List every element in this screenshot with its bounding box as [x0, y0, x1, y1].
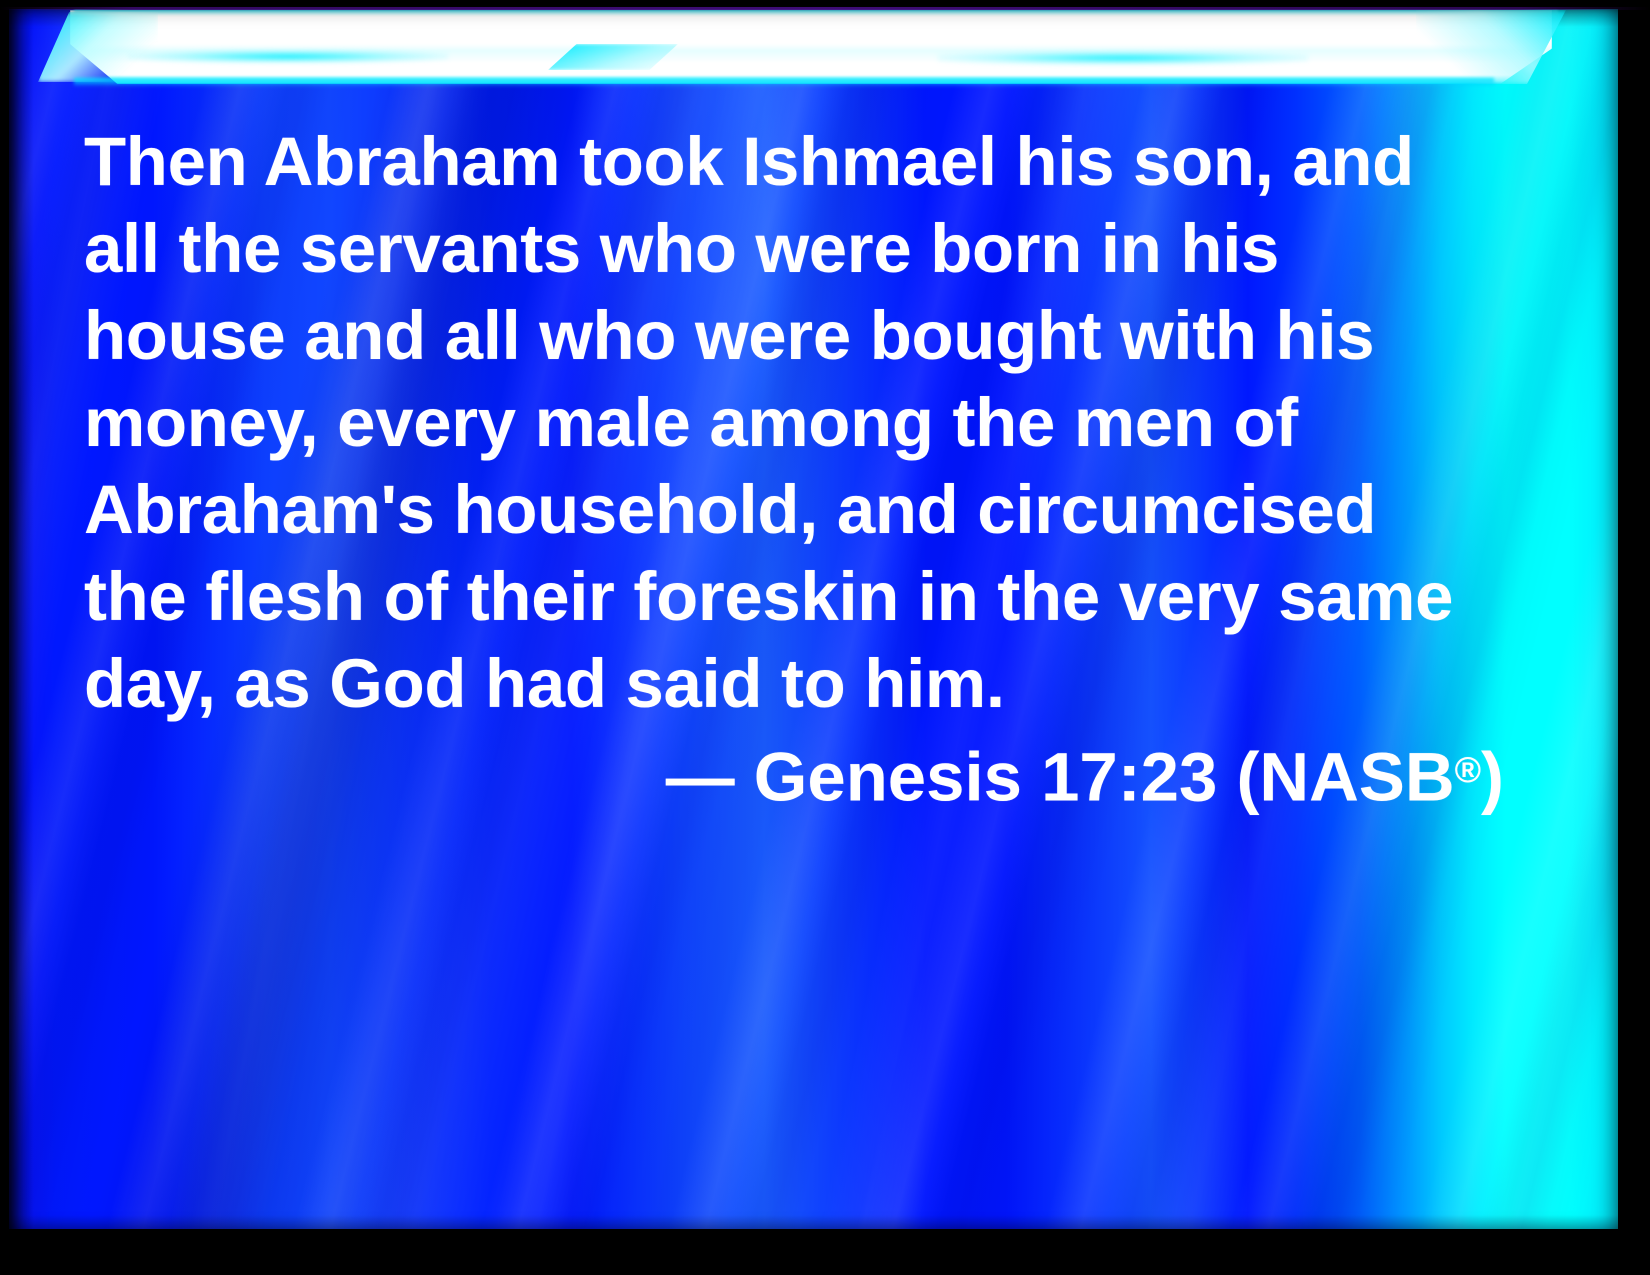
verse-reference: — Genesis 17:23 (NASB®): [84, 118, 1504, 821]
verse-reference-text: — Genesis 17:23 (NASB®): [84, 727, 1504, 821]
registered-trademark-icon: ®: [1455, 750, 1481, 790]
verse-slide: Then Abraham took Ishmael his son, and a…: [0, 0, 1650, 1275]
reference-suffix: ): [1481, 739, 1504, 816]
frame-border-bottom: [0, 1229, 1650, 1275]
reference-prefix: — Genesis 17:23 (NASB: [666, 739, 1455, 816]
frame-border-left: [0, 0, 9, 1275]
frame-purple-hairline: [0, 7, 1650, 10]
frame-border-right: [1618, 0, 1650, 1275]
